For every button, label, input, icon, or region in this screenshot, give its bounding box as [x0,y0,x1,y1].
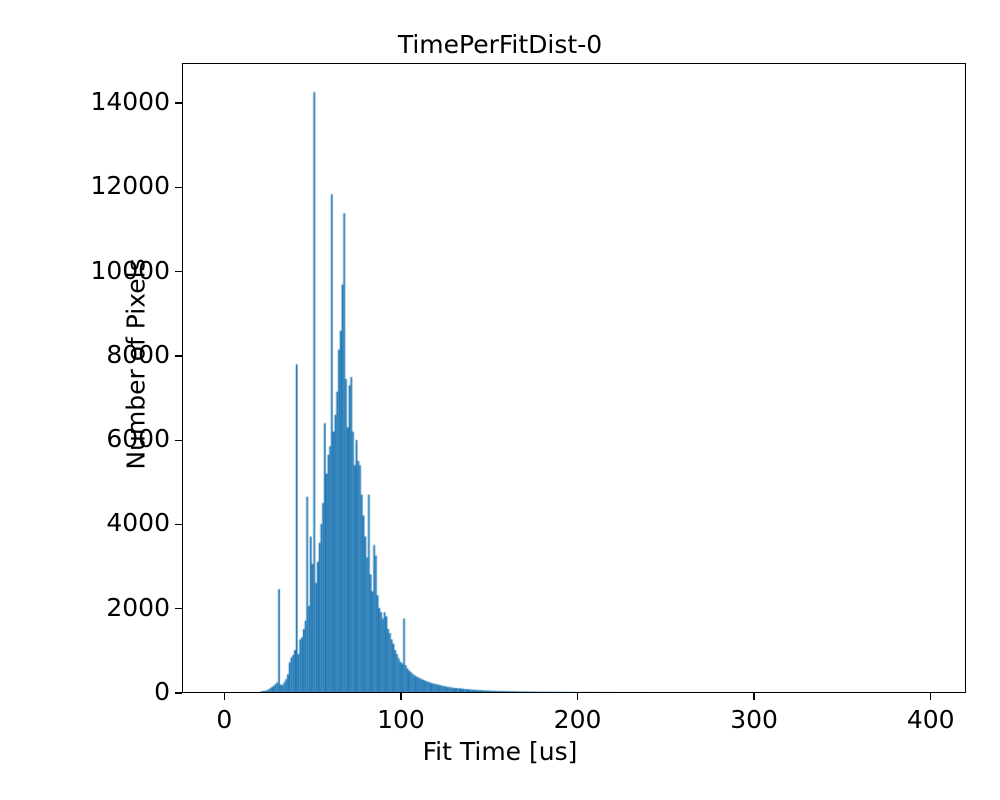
y-tick-label: 2000 [106,593,170,622]
y-tick-mark [175,692,182,693]
y-tick-mark [175,187,182,188]
x-tick-label: 200 [518,705,638,734]
y-tick-mark [175,102,182,103]
y-tick-label: 14000 [90,87,170,116]
y-tick-mark [175,355,182,356]
x-tick-mark [224,693,225,700]
y-axis-label: Number of Pixels [122,258,151,469]
y-tick-mark [175,440,182,441]
x-tick-mark [400,693,401,700]
chart-title: TimePerFitDist-0 [0,30,1000,59]
x-tick-label: 300 [694,705,814,734]
histogram-bars [183,64,965,692]
x-tick-mark [577,693,578,700]
y-tick-label: 4000 [106,508,170,537]
y-tick-mark [175,608,182,609]
x-tick-mark [930,693,931,700]
matplotlib-figure: TimePerFitDist-0 Number of Pixels 020004… [0,0,1000,800]
y-tick-label: 12000 [90,171,170,200]
x-tick-label: 100 [341,705,461,734]
y-tick-mark [175,524,182,525]
y-tick-label: 0 [154,677,170,706]
x-axis-label: Fit Time [us] [0,737,1000,766]
x-tick-mark [753,693,754,700]
y-tick-mark [175,271,182,272]
plot-axes: Number of Pixels [182,63,966,693]
x-tick-label: 0 [164,705,284,734]
x-tick-label: 400 [871,705,991,734]
